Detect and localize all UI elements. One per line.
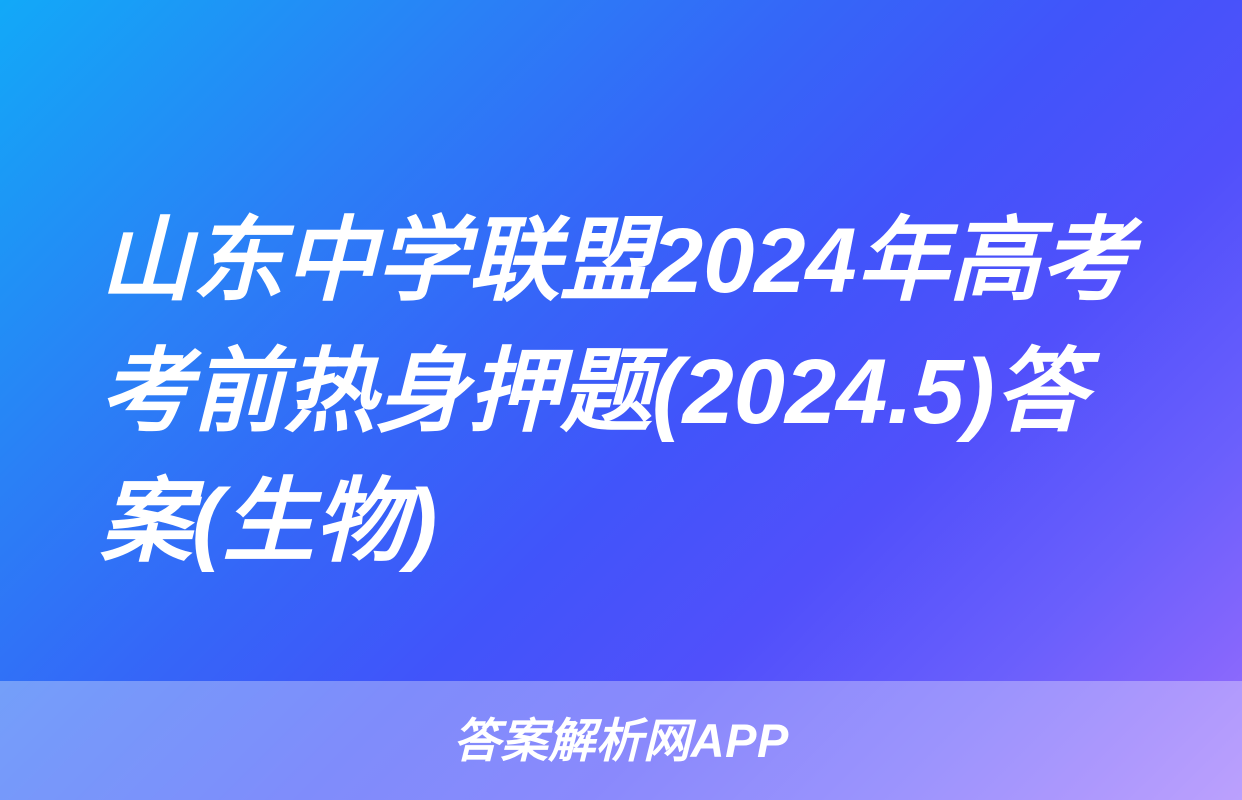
cover-card: 山东中学联盟2024年高考考前热身押题(2024.5)答案(生物) 答案解析网A… [0, 0, 1242, 800]
title-block: 山东中学联盟2024年高考考前热身押题(2024.5)答案(生物) [100, 196, 1155, 588]
watermark-app-name: 答案解析网APP [453, 717, 789, 764]
watermark-bar: 答案解析网APP [0, 700, 1242, 780]
page-title: 山东中学联盟2024年高考考前热身押题(2024.5)答案(生物) [100, 196, 1155, 588]
